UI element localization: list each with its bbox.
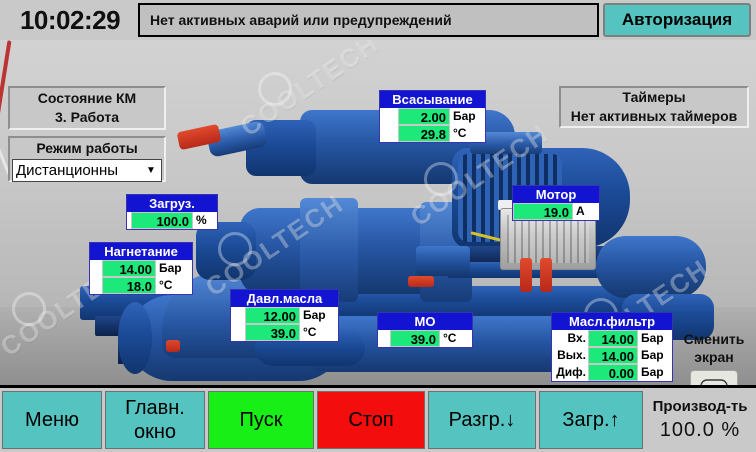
readout-row: Вых. 14.00 Бар: [552, 347, 672, 364]
operating-mode-select[interactable]: Дистанционны ▼: [12, 159, 162, 182]
readout-value: 29.8: [398, 125, 450, 142]
readout-value: 14.00: [588, 330, 638, 347]
row-spacer: [378, 330, 390, 347]
compressor-flange-1: [300, 198, 358, 302]
capacity-value: 100.0 %: [660, 417, 740, 443]
readout-title: Мотор: [513, 186, 599, 203]
readout-value: 0.00: [588, 364, 638, 381]
relief-valve-1: [520, 258, 532, 292]
readout-value: 14.00: [102, 260, 156, 277]
readout-oil-filter[interactable]: Масл.фильтр Вх. 14.00 Бар Вых. 14.00 Бар…: [551, 312, 673, 382]
readout-unit: °C: [156, 277, 192, 294]
process-graphic-area: COOLTECH COOLTECH COOLTECH COOLTECH COOL…: [0, 40, 756, 385]
readout-title: Загруз.: [127, 195, 217, 212]
row-spacer: [231, 307, 245, 324]
row-spacer: [90, 277, 102, 294]
readout-value: 39.0: [245, 324, 300, 341]
readout-unit: Бар: [156, 260, 192, 277]
right-vessel: [596, 236, 706, 298]
readout-motor[interactable]: Мотор 19.0 A: [512, 185, 600, 221]
readout-value: 39.0: [390, 330, 440, 347]
readout-title: Масл.фильтр: [552, 313, 672, 330]
unload-button[interactable]: Разгр.↓: [428, 391, 536, 449]
readout-label: Диф.: [552, 364, 588, 381]
readout-row: 14.00 Бар: [90, 260, 192, 277]
timers-value: Нет активных таймеров: [571, 107, 738, 126]
readout-row: 19.0 A: [513, 203, 599, 220]
readout-title: МО: [378, 313, 472, 330]
load-button[interactable]: Загр.↑: [539, 391, 643, 449]
readout-title: Нагнетание: [90, 243, 192, 260]
change-screen-control[interactable]: Сменить экран: [676, 330, 752, 385]
readout-title: Всасывание: [380, 91, 485, 108]
capacity-indicator: Производ-ть 100.0 %: [646, 391, 754, 449]
change-screen-button[interactable]: [690, 370, 738, 385]
readout-value: 19.0: [513, 203, 573, 220]
operating-mode-panel: Режим работы Дистанционны ▼: [8, 136, 166, 182]
row-spacer: [380, 108, 398, 125]
readout-value: 100.0: [131, 212, 193, 229]
compressor-state-value: 3. Работа: [55, 108, 119, 127]
readout-title: Давл.масла: [231, 290, 338, 307]
readout-unit: Бар: [638, 330, 672, 347]
menu-button[interactable]: Меню: [2, 391, 102, 449]
top-bar: 10:02:29 Нет активных аварий или предупр…: [0, 0, 756, 40]
coupling-guard: [416, 246, 470, 276]
relief-valve-3: [408, 276, 434, 287]
readout-load[interactable]: Загруз. 100.0 %: [126, 194, 218, 230]
readout-label: Вх.: [552, 330, 588, 347]
operating-mode-title: Режим работы: [36, 139, 137, 158]
readout-value: 18.0: [102, 277, 156, 294]
authorization-button[interactable]: Авторизация: [603, 3, 751, 37]
timers-title: Таймеры: [622, 88, 685, 107]
row-spacer: [90, 260, 102, 277]
readout-row: 39.0 °C: [378, 330, 472, 347]
readout-unit: Бар: [638, 347, 672, 364]
readout-row: 2.00 Бар: [380, 108, 485, 125]
loop-arrow-icon: [698, 377, 730, 385]
readout-row: 100.0 %: [127, 212, 217, 229]
readout-value: 14.00: [588, 347, 638, 364]
start-button[interactable]: Пуск: [208, 391, 314, 449]
chevron-down-icon[interactable]: ▼: [141, 160, 161, 181]
compressor-state-panel: Состояние КМ 3. Работа: [8, 86, 166, 130]
readout-row: Вх. 14.00 Бар: [552, 330, 672, 347]
clock-display: 10:02:29: [4, 2, 136, 38]
heat-exchanger-grid: [507, 215, 589, 263]
main-window-label: Главн. окно: [125, 396, 185, 444]
operating-mode-value: Дистанционны: [16, 162, 118, 179]
readout-row: 18.0 °C: [90, 277, 192, 294]
readout-oil-pressure[interactable]: Давл.масла 12.00 Бар 39.0 °C: [230, 289, 339, 342]
row-spacer: [231, 324, 245, 341]
change-screen-label-line1: Сменить: [676, 330, 752, 348]
capacity-label: Производ-ть: [653, 397, 748, 417]
readout-unit: Бар: [300, 307, 338, 324]
compressor-state-title: Состояние КМ: [38, 89, 136, 108]
readout-unit: A: [573, 203, 599, 220]
timers-panel: Таймеры Нет активных таймеров: [559, 86, 749, 128]
readout-unit: °C: [300, 324, 338, 341]
readout-unit: Бар: [638, 364, 672, 381]
readout-row: 39.0 °C: [231, 324, 338, 341]
readout-discharge[interactable]: Нагнетание 14.00 Бар 18.0 °C: [89, 242, 193, 295]
stop-button[interactable]: Стоп: [317, 391, 425, 449]
readout-value: 2.00: [398, 108, 450, 125]
readout-unit: %: [193, 212, 217, 229]
readout-unit: Бар: [450, 108, 485, 125]
relief-valve-4: [166, 340, 180, 352]
readout-mo[interactable]: МО 39.0 °C: [377, 312, 473, 348]
row-spacer: [380, 125, 398, 142]
readout-label: Вых.: [552, 347, 588, 364]
readout-suction[interactable]: Всасывание 2.00 Бар 29.8 °C: [379, 90, 486, 143]
readout-value: 12.00: [245, 307, 300, 324]
alarm-status-bar[interactable]: Нет активных аварий или предупреждений: [138, 3, 599, 37]
readout-row: 12.00 Бар: [231, 307, 338, 324]
oil-separator-cap: [118, 302, 152, 374]
readout-row: Диф. 0.00 Бар: [552, 364, 672, 381]
readout-unit: °C: [440, 330, 472, 347]
hmi-screen: 10:02:29 Нет активных аварий или предупр…: [0, 0, 756, 452]
readout-row: 29.8 °C: [380, 125, 485, 142]
bottom-button-bar: Меню Главн. окно Пуск Стоп Разгр.↓ Загр.…: [0, 385, 756, 452]
relief-valve-2: [540, 258, 552, 292]
readout-unit: °C: [450, 125, 485, 142]
change-screen-label-line2: экран: [676, 348, 752, 366]
main-window-button[interactable]: Главн. окно: [105, 391, 205, 449]
